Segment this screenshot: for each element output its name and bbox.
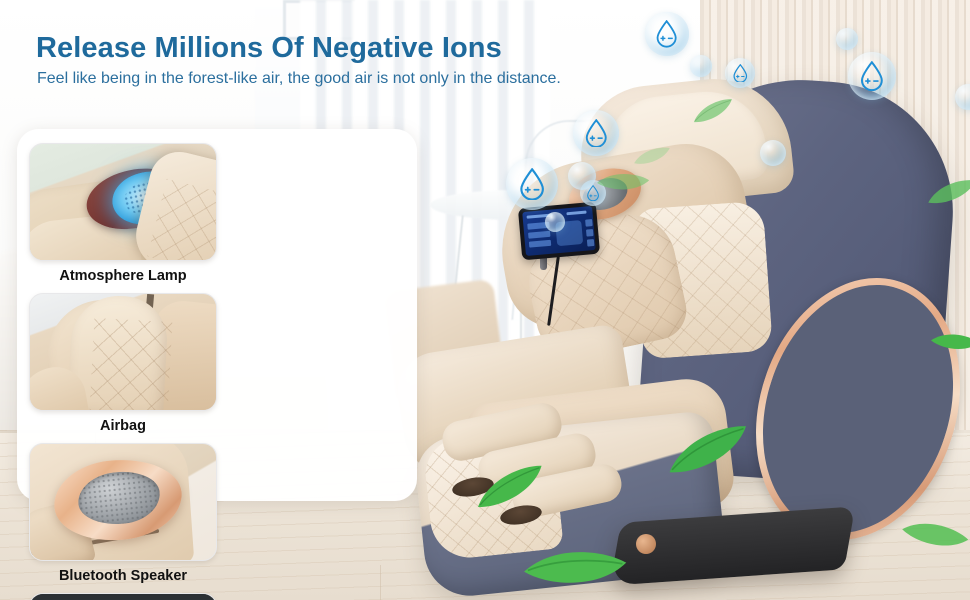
feature-thumbnail-power-cord[interactable]	[29, 593, 217, 600]
page-title: Release Millions Of Negative Ions	[36, 32, 502, 65]
feature-card-power-cord[interactable]: Power cord interface & Power switch	[29, 593, 217, 600]
feature-card-airbag[interactable]: Airbag	[29, 293, 217, 435]
feature-panel: Atmosphere Lamp Airbag Bluetooth Speaker	[17, 129, 417, 501]
feature-thumbnail-atmosphere-lamp[interactable]	[29, 143, 217, 261]
water-droplet-ion-icon	[582, 119, 611, 148]
feature-label-bluetooth-speaker: Bluetooth Speaker	[29, 568, 217, 585]
ion-bubble	[690, 55, 712, 77]
ion-bubble	[725, 58, 755, 88]
water-droplet-ion-icon	[731, 64, 750, 83]
feature-card-bluetooth-speaker[interactable]: Bluetooth Speaker	[29, 443, 217, 585]
ion-bubble	[836, 28, 858, 50]
ion-bubble	[573, 110, 619, 156]
water-droplet-ion-icon	[653, 20, 680, 47]
water-droplet-ion-icon	[857, 61, 887, 91]
ion-bubble	[568, 162, 596, 190]
promo-banner: Release Millions Of Negative Ions Feel l…	[0, 0, 970, 600]
feature-grid: Atmosphere Lamp Airbag Bluetooth Speaker	[29, 143, 405, 600]
feature-label-atmosphere-lamp: Atmosphere Lamp	[29, 268, 217, 285]
feature-thumbnail-bluetooth-speaker[interactable]	[29, 443, 217, 561]
ion-bubble	[545, 212, 565, 232]
page-subtitle: Feel like being in the forest-like air, …	[37, 70, 561, 88]
feature-thumbnail-airbag[interactable]	[29, 293, 217, 411]
chair-base-hinge	[636, 534, 656, 554]
ion-bubble	[506, 158, 558, 210]
ion-bubble	[645, 12, 689, 56]
feature-card-atmosphere-lamp[interactable]: Atmosphere Lamp	[29, 143, 217, 285]
ion-bubble	[848, 52, 896, 100]
water-droplet-ion-icon	[516, 168, 548, 200]
feature-label-airbag: Airbag	[29, 418, 217, 435]
ion-bubble	[760, 140, 786, 166]
